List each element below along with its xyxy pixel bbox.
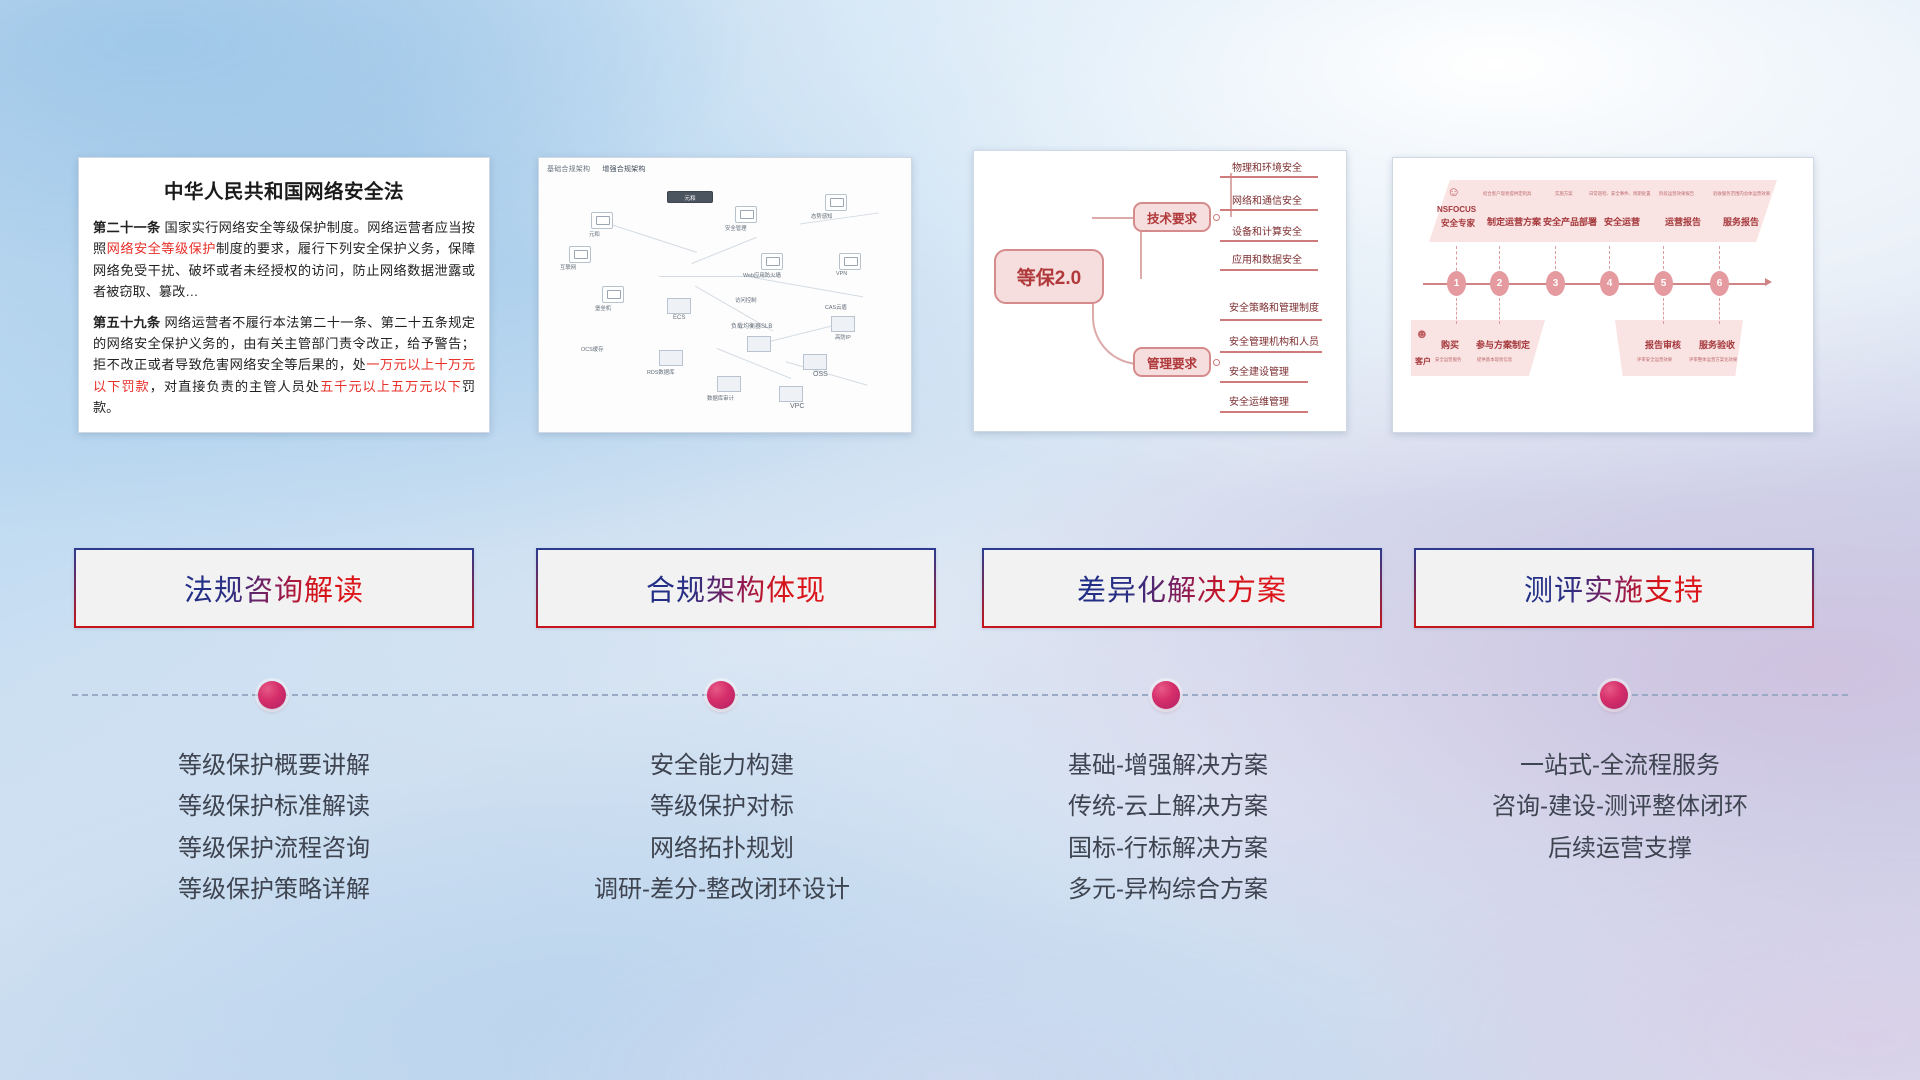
roadmap-bottom-actor: 客户 (1415, 356, 1431, 367)
arch-icon-ecs (667, 298, 691, 314)
roadmap-connector (1719, 298, 1721, 324)
roadmap-bottom-sub: 评审安全运营效果 (1637, 357, 1672, 363)
arch-connector (691, 237, 756, 264)
arch-icon-oss (803, 354, 827, 370)
list-item: 等级保护标准解读 (74, 786, 474, 827)
arch-icon-console (825, 194, 847, 211)
arch-node-label: 高防IP (835, 333, 851, 341)
roadmap-connector (1663, 246, 1665, 274)
article-59-text-b: ，对直接负责的主管人员处 (150, 379, 320, 394)
card-mindmap-dengbao: 等保2.0 技术要求 管理要求 物理和环境安全 网络和通信安全 设备和计算安全 … (973, 150, 1347, 432)
arch-node-label: CAS云盾 (825, 303, 847, 311)
mindmap-underline (1220, 381, 1308, 383)
section-title-box-1[interactable]: 法规咨询解读 (74, 548, 474, 628)
timeline-node-3[interactable] (1152, 681, 1180, 709)
list-item: 多元-异构综合方案 (968, 869, 1368, 910)
list-item: 安全能力构建 (522, 745, 922, 786)
card-cybersecurity-law: 中华人民共和国网络安全法 第二十一条 国家实行网络安全等级保护制度。网络运营者应… (78, 157, 490, 433)
section-title-4: 测评实施支持 (1524, 567, 1704, 609)
mindmap-branch-management: 管理要求 (1133, 347, 1211, 377)
section-title-1: 法规咨询解读 (184, 567, 364, 609)
roadmap-top-band (1429, 180, 1777, 242)
arch-node-label: 访问控制 (735, 296, 757, 304)
mindmap-underline (1220, 240, 1318, 242)
arch-node-label: 态势感知 (811, 212, 833, 220)
timeline-node-1[interactable] (258, 681, 286, 709)
arch-icon-audit (717, 376, 741, 392)
arch-header-right: 增强合规架构 (602, 166, 645, 173)
mindmap: 等保2.0 技术要求 管理要求 物理和环境安全 网络和通信安全 设备和计算安全 … (974, 151, 1346, 431)
arch-header-left: 基础合规架构 (547, 166, 590, 173)
card-service-roadmap: ☺ NSFOCUS 安全专家 结合客户现状提供定制具 制定运营方案 实施方案 安… (1392, 157, 1814, 433)
roadmap-top-actor-line2: 安全专家 (1441, 217, 1475, 229)
roadmap-step-title: 安全运营 (1604, 215, 1640, 228)
mindmap-leaf: 安全建设管理 (1229, 363, 1289, 378)
roadmap-bottom-sub: 安全运营服务 (1435, 357, 1461, 363)
roadmap-bottom-sub: 评审整体运营方案化效果 (1689, 357, 1737, 363)
mindmap-leaf: 物理和环境安全 (1232, 159, 1302, 174)
roadmap-step-node[interactable]: 3 (1546, 271, 1565, 296)
arch-icon-network (569, 246, 591, 263)
section-title-2: 合规架构体现 (646, 567, 826, 609)
mindmap-leaf: 应用和数据安全 (1232, 251, 1302, 266)
arch-icon-rds (659, 350, 683, 366)
section-items-3: 基础-增强解决方案 传统-云上解决方案 国标-行标解决方案 多元-异构综合方案 (968, 745, 1368, 910)
article-21-highlight: 网络安全等级保护 (107, 241, 216, 256)
roadmap-connector (1609, 246, 1611, 274)
arch-icon-cloud (591, 212, 613, 229)
law-body: 第二十一条 国家实行网络安全等级保护制度。网络运营者应当按照网络安全等级保护制度… (79, 217, 489, 418)
section-title-box-4[interactable]: 测评实施支持 (1414, 548, 1814, 628)
mindmap-root-node: 等保2.0 (994, 249, 1104, 304)
arch-node-label: 负载均衡器SLB (731, 321, 772, 330)
arch-connector (611, 224, 697, 253)
list-item: 网络拓扑规划 (522, 828, 922, 869)
arch-icon-waf (761, 253, 783, 270)
arch-node-label: OCS缓存 (581, 345, 603, 353)
arch-node-label: RDS数据库 (647, 368, 675, 376)
section-items-1: 等级保护概要讲解 等级保护标准解读 等级保护流程咨询 等级保护策略详解 (74, 745, 474, 910)
mindmap-leaf: 网络和通信安全 (1232, 192, 1302, 207)
arch-connector (717, 348, 792, 379)
mindmap-underline (1220, 319, 1322, 321)
arch-node-label: 数据库审计 (707, 394, 734, 402)
arch-node-label: 元和 (589, 230, 600, 238)
roadmap-step-title: 安全产品部署 (1543, 215, 1597, 228)
section-title-box-3[interactable]: 差异化解决方案 (982, 548, 1382, 628)
roadmap-connector (1719, 246, 1721, 274)
section-title-3: 差异化解决方案 (1077, 567, 1287, 609)
roadmap-step-title: 制定运营方案 (1487, 215, 1541, 228)
roadmap-step-title: 运营报告 (1665, 215, 1701, 228)
customer-icon: ☻ (1415, 326, 1429, 341)
architecture-header: 基础合规架构 增强合规架构 (547, 164, 646, 174)
arch-node-label: VPC (790, 403, 804, 410)
list-item: 等级保护概要讲解 (74, 745, 474, 786)
law-title: 中华人民共和国网络安全法 (79, 175, 489, 204)
roadmap-step-sub: 结合客户现状提供定制具 (1483, 191, 1531, 197)
roadmap-top-actor-line1: NSFOCUS (1437, 205, 1476, 214)
mindmap-leaf: 安全管理机构和人员 (1229, 333, 1319, 348)
list-item: 调研-差分-整改闭环设计 (522, 869, 922, 910)
architecture-diagram: 基础合规架构 增强合规架构 元和 元和 互联网 安全管理 态势感知 (539, 158, 911, 432)
timeline-node-4[interactable] (1600, 681, 1628, 709)
mindmap-underline (1220, 351, 1322, 353)
roadmap-connector (1663, 298, 1665, 324)
list-item: 等级保护策略详解 (74, 869, 474, 910)
roadmap-step-node[interactable]: 5 (1654, 271, 1673, 296)
list-item: 传统-云上解决方案 (968, 786, 1368, 827)
arch-icon-cas (831, 316, 855, 332)
list-item: 后续运营支撑 (1420, 828, 1820, 869)
roadmap-step-title: 服务报告 (1723, 215, 1759, 228)
list-item: 等级保护对标 (522, 786, 922, 827)
arch-node-label: VPN (836, 271, 847, 277)
section-title-box-2[interactable]: 合规架构体现 (536, 548, 936, 628)
article-21-label: 第二十一条 (93, 220, 161, 235)
mindmap-underline (1220, 176, 1318, 178)
roadmap-bottom-title: 服务验收 (1699, 338, 1735, 351)
mindmap-leaf: 安全策略和管理制度 (1229, 299, 1319, 314)
list-item: 基础-增强解决方案 (968, 745, 1368, 786)
roadmap-diagram: ☺ NSFOCUS 安全专家 结合客户现状提供定制具 制定运营方案 实施方案 安… (1393, 158, 1813, 432)
roadmap-step-sub: 日常巡检、安全事件、周期处置 (1589, 191, 1650, 197)
law-article-59: 第五十九条 网络运营者不履行本法第二十一条、第二十五条规定的网络安全保护义务的，… (93, 312, 475, 419)
mindmap-leaf: 安全运维管理 (1229, 393, 1289, 408)
mindmap-underline (1220, 411, 1308, 413)
arch-icon-slb (747, 336, 771, 352)
roadmap-connector (1499, 246, 1501, 274)
arch-node-label: 互联网 (560, 263, 576, 271)
card-compliance-architecture: 基础合规架构 增强合规架构 元和 元和 互联网 安全管理 态势感知 (538, 157, 912, 433)
arch-icon-vpn (839, 253, 861, 270)
arch-node: 元和 (667, 191, 713, 203)
roadmap-bottom-title: 报告审核 (1645, 338, 1681, 351)
roadmap-connector (1499, 298, 1501, 324)
section-items-2: 安全能力构建 等级保护对标 网络拓扑规划 调研-差分-整改闭环设计 (522, 745, 922, 910)
list-item: 一站式-全流程服务 (1420, 745, 1820, 786)
roadmap-connector (1456, 298, 1458, 324)
arch-node-label: 安全管理 (725, 224, 747, 232)
roadmap-step-sub: 实施方案 (1555, 191, 1573, 197)
arch-icon-bastion (602, 286, 624, 303)
security-expert-icon: ☺ (1447, 184, 1460, 199)
mindmap-underline (1220, 269, 1318, 271)
arch-node-label: ECS (673, 315, 685, 321)
arch-node-label: OSS (813, 371, 828, 378)
roadmap-step-sub: 验收服务范围内总体运营效果 (1713, 191, 1770, 197)
roadmap-bottom-sub: 提供基本现状信息 (1477, 357, 1512, 363)
timeline-dashed-line (72, 694, 1848, 696)
article-59-label: 第五十九条 (93, 315, 161, 330)
arch-icon-vpc (779, 386, 803, 402)
arch-node-label: Web应用防火墙 (743, 271, 781, 279)
article-59-highlight-2: 五千元以上五万元以下 (320, 379, 462, 394)
mindmap-branch-technical: 技术要求 (1133, 202, 1211, 232)
roadmap-step-node[interactable]: 4 (1600, 271, 1619, 296)
mindmap-leaf: 设备和计算安全 (1232, 223, 1302, 238)
law-article-21: 第二十一条 国家实行网络安全等级保护制度。网络运营者应当按照网络安全等级保护制度… (93, 217, 475, 303)
mindmap-collapse-dot[interactable] (1213, 214, 1220, 221)
list-item: 等级保护流程咨询 (74, 828, 474, 869)
roadmap-step-node[interactable]: 2 (1490, 271, 1509, 296)
roadmap-step-node[interactable]: 1 (1447, 271, 1466, 296)
timeline-node-2[interactable] (707, 681, 735, 709)
roadmap-step-sub: 阶段运营效果报告 (1659, 191, 1694, 197)
section-items-4: 一站式-全流程服务 咨询-建设-测评整体闭环 后续运营支撑 (1420, 745, 1820, 869)
arch-node-label: 堡垒机 (595, 304, 611, 312)
roadmap-bottom-title: 参与方案制定 (1476, 338, 1530, 351)
arch-icon-server (735, 206, 757, 223)
roadmap-bottom-title: 购买 (1441, 338, 1459, 351)
list-item: 咨询-建设-测评整体闭环 (1420, 786, 1820, 827)
roadmap-step-node[interactable]: 6 (1710, 271, 1729, 296)
roadmap-connector (1555, 246, 1557, 274)
list-item: 国标-行标解决方案 (968, 828, 1368, 869)
mindmap-collapse-dot[interactable] (1213, 359, 1220, 366)
mindmap-underline (1220, 209, 1318, 211)
roadmap-axis-arrow (1765, 278, 1772, 286)
